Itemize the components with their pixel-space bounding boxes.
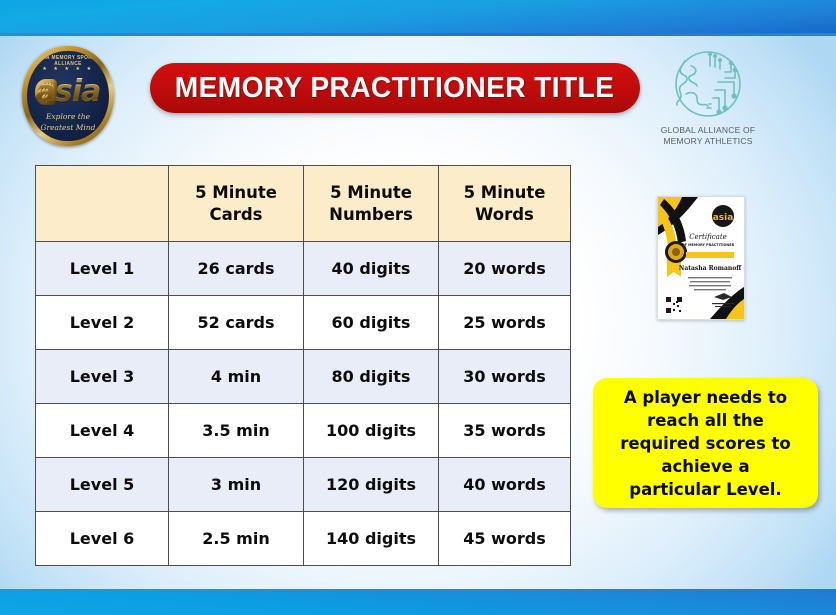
asia-logo: ASIA MEMORY SPORTS ALLIANCE ★ ★ ★ ★ ★ as… [22,46,114,146]
table-row: Level 4 3.5 min 100 digits 35 words [36,404,571,458]
slide-canvas: ASIA MEMORY SPORTS ALLIANCE ★ ★ ★ ★ ★ as… [0,0,836,615]
cell-level: Level 6 [36,512,169,566]
globe-circuit-icon [655,44,761,124]
cell-level: Level 1 [36,242,169,296]
note-line-1: A player needs to [620,386,790,409]
levels-table-body: Level 1 26 cards 40 digits 20 words Leve… [36,242,571,566]
asia-logo-tagline-2: Greatest Mind [27,123,109,132]
column-header-cards-line-1: 5 Minute [169,182,303,204]
cell-cards: 3 min [169,458,304,512]
column-header-words-line-2: Words [439,204,570,226]
table-row: Level 5 3 min 120 digits 40 words [36,458,571,512]
table-header-row: 5 Minute Cards 5 Minute Numbers 5 Minute… [36,166,571,242]
bottom-banner [0,589,836,615]
gama-logo-line-2: MEMORY ATHLETICS [655,136,761,147]
asia-logo-face: ASIA MEMORY SPORTS ALLIANCE ★ ★ ★ ★ ★ as… [27,51,109,141]
cell-cards: 3.5 min [169,404,304,458]
cell-cards: 52 cards [169,296,304,350]
top-banner [0,0,836,36]
certificate-image: asia Certificate OF MEMORY PRACTITIONER … [658,197,744,319]
cell-numbers: 140 digits [304,512,439,566]
table-row: Level 1 26 cards 40 digits 20 words [36,242,571,296]
column-header-numbers-line-1: 5 Minute [304,182,438,204]
cell-words: 30 words [439,350,571,404]
cell-words: 35 words [439,404,571,458]
table-row: Level 3 4 min 80 digits 30 words [36,350,571,404]
page-title-banner: MEMORY PRACTITIONER TITLE [150,63,640,113]
cell-cards: 2.5 min [169,512,304,566]
cell-words: 40 words [439,458,571,512]
cell-level: Level 2 [36,296,169,350]
asia-logo-stars: ★ ★ ★ ★ ★ [27,66,109,72]
cell-words: 20 words [439,242,571,296]
note-line-2: reach all the [620,409,790,432]
note-line-5: particular Level. [620,478,790,501]
cell-words: 25 words [439,296,571,350]
levels-table-header: 5 Minute Cards 5 Minute Numbers 5 Minute… [36,166,571,242]
column-header-cards-line-2: Cards [169,204,303,226]
column-header-words-line-1: 5 Minute [439,182,570,204]
cell-cards: 4 min [169,350,304,404]
gama-logo-text: GLOBAL ALLIANCE OF MEMORY ATHLETICS [655,125,761,147]
cell-numbers: 60 digits [304,296,439,350]
cell-words: 45 words [439,512,571,566]
table-row: Level 2 52 cards 60 digits 25 words [36,296,571,350]
column-header-numbers-line-2: Numbers [304,204,438,226]
certificate-thumbnail[interactable]: asia Certificate OF MEMORY PRACTITIONER … [657,196,745,320]
gama-logo-line-1: GLOBAL ALLIANCE OF [655,125,761,136]
note-callout: A player needs to reach all the required… [593,378,818,508]
cell-level: Level 4 [36,404,169,458]
cell-numbers: 40 digits [304,242,439,296]
asia-logo-tagline-1: Explore the [27,112,109,121]
column-header-numbers: 5 Minute Numbers [304,166,439,242]
note-text: A player needs to reach all the required… [620,386,790,501]
page-title: MEMORY PRACTITIONER TITLE [175,72,614,105]
cell-level: Level 3 [36,350,169,404]
cell-numbers: 80 digits [304,350,439,404]
cell-cards: 26 cards [169,242,304,296]
cell-level: Level 5 [36,458,169,512]
table-row: Level 6 2.5 min 140 digits 45 words [36,512,571,566]
note-line-4: achieve a [620,455,790,478]
svg-text:Natasha Romanoff: Natasha Romanoff [679,265,742,272]
levels-table: 5 Minute Cards 5 Minute Numbers 5 Minute… [35,165,571,566]
column-header-cards: 5 Minute Cards [169,166,304,242]
asia-logo-wordmark: asia [27,77,109,107]
gama-logo: GLOBAL ALLIANCE OF MEMORY ATHLETICS [655,44,761,147]
cell-numbers: 100 digits [304,404,439,458]
note-line-3: required scores to [620,432,790,455]
svg-text:Certificate: Certificate [689,233,727,241]
column-header-words: 5 Minute Words [439,166,571,242]
svg-text:asia: asia [713,213,734,223]
column-header-level [36,166,169,242]
svg-text:OF MEMORY PRACTITIONER: OF MEMORY PRACTITIONER [682,243,735,247]
cell-numbers: 120 digits [304,458,439,512]
